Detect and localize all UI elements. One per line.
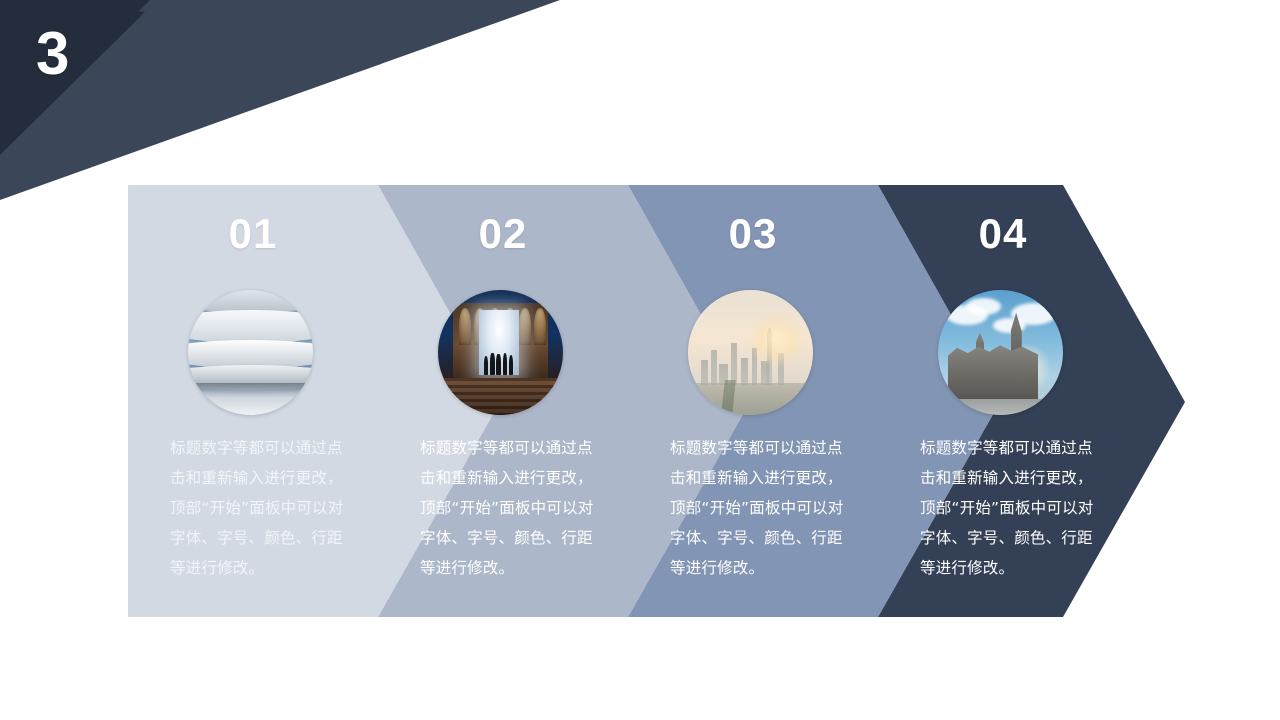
panel-number-02: 02	[378, 213, 628, 255]
panel-03[interactable]: 03 标题数字等都可以通过点击和重	[628, 185, 878, 620]
panel-04[interactable]: 04 标题数字等都可以通过点击和重新输入进行更改，顶部“开始”面板中可以对字体、…	[878, 185, 1128, 620]
panel-01[interactable]: 01 标题数字等都可以通过点击和重新输入进行更改，顶部“开始”面板中可以对字体、…	[128, 185, 378, 620]
panel-body-04: 标题数字等都可以通过点击和重新输入进行更改，顶部“开始”面板中可以对字体、字号、…	[920, 433, 1098, 583]
slide-canvas: 3 01	[0, 0, 1280, 720]
panel-body-03: 标题数字等都可以通过点击和重新输入进行更改，顶部“开始”面板中可以对字体、字号、…	[670, 433, 848, 583]
gothic-cathedral-photo	[938, 290, 1063, 415]
panel-number-01: 01	[128, 213, 378, 255]
panel-photo-03	[688, 290, 813, 415]
panel-photo-01	[188, 290, 313, 415]
city-skyline-sunrise-photo	[688, 290, 813, 415]
illuminated-facade-night-photo	[438, 290, 563, 415]
panel-02[interactable]: 02 标题数字等都可以通过点击和重新输入进行更改，顶部“开始”面板中可以对字体、…	[378, 185, 628, 620]
panel-body-01: 标题数字等都可以通过点击和重新输入进行更改，顶部“开始”面板中可以对字体、字号、…	[170, 433, 348, 583]
panel-body-02: 标题数字等都可以通过点击和重新输入进行更改，顶部“开始”面板中可以对字体、字号、…	[420, 433, 598, 583]
panel-photo-04	[938, 290, 1063, 415]
panel-photo-02	[438, 290, 563, 415]
modern-curved-architecture-photo	[188, 290, 313, 415]
slide-number: 3	[36, 24, 70, 84]
panel-number-03: 03	[628, 213, 878, 255]
panel-number-04: 04	[878, 213, 1128, 255]
